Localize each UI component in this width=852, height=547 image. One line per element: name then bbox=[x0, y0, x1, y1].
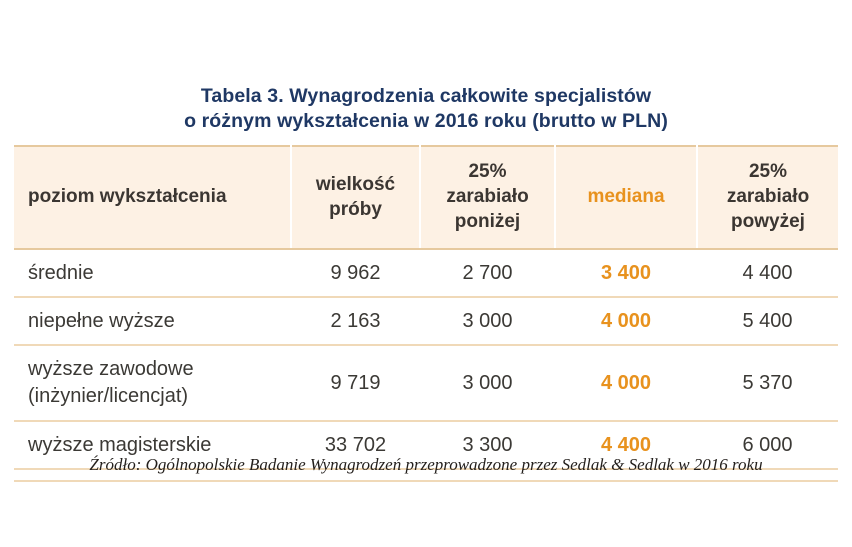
table-row: średnie 9 962 2 700 3 400 4 400 bbox=[14, 249, 838, 297]
column-header-education-level-line-1: poziom wykształcenia bbox=[28, 184, 282, 209]
column-header-sample-size: wielkość próby bbox=[291, 146, 420, 249]
cell-q25-below: 3 000 bbox=[420, 297, 555, 345]
table-row: wyższe zawodowe (inżynier/licencjat) 9 7… bbox=[14, 345, 838, 421]
cell-q25-above: 4 400 bbox=[697, 249, 838, 297]
cell-median: 3 400 bbox=[555, 249, 697, 297]
cell-sample-size: 2 163 bbox=[291, 297, 420, 345]
source-note: Źródło: Ogólnopolskie Badanie Wynagrodze… bbox=[14, 455, 838, 475]
page-title: Tabela 3. Wynagrodzenia całkowite specja… bbox=[0, 84, 852, 134]
cell-median: 4 000 bbox=[555, 345, 697, 421]
column-header-q25-above-line-1: 25% bbox=[706, 159, 830, 184]
column-header-q25-below-line-1: 25% bbox=[429, 159, 546, 184]
column-header-q25-above-line-2: zarabiało bbox=[706, 184, 830, 209]
cell-sample-size: 9 719 bbox=[291, 345, 420, 421]
column-header-median-line-1: mediana bbox=[564, 184, 688, 209]
cell-education-level: wyższe zawodowe (inżynier/licencjat) bbox=[14, 345, 291, 421]
cell-education-level-line-1: wyższe zawodowe bbox=[28, 356, 283, 383]
wage-table: poziom wykształcenia wielkość próby 25% … bbox=[14, 145, 838, 470]
table-body: średnie 9 962 2 700 3 400 4 400 niepełne… bbox=[14, 249, 838, 469]
cell-q25-above: 5 400 bbox=[697, 297, 838, 345]
column-header-q25-below-line-3: poniżej bbox=[429, 209, 546, 234]
cell-education-level: niepełne wyższe bbox=[14, 297, 291, 345]
column-header-sample-size-line-2: próby bbox=[300, 197, 411, 222]
cell-sample-size: 9 962 bbox=[291, 249, 420, 297]
cell-q25-below: 3 000 bbox=[420, 345, 555, 421]
cell-median: 4 000 bbox=[555, 297, 697, 345]
column-header-q25-above-line-3: powyżej bbox=[706, 209, 830, 234]
wage-table-container: poziom wykształcenia wielkość próby 25% … bbox=[14, 145, 838, 470]
cell-education-level-line-1: niepełne wyższe bbox=[28, 308, 283, 334]
cell-education-level-line-1: średnie bbox=[28, 260, 283, 286]
column-header-median: mediana bbox=[555, 146, 697, 249]
table-header: poziom wykształcenia wielkość próby 25% … bbox=[14, 146, 838, 249]
title-line-1: Tabela 3. Wynagrodzenia całkowite specja… bbox=[0, 84, 852, 109]
cell-q25-below: 2 700 bbox=[420, 249, 555, 297]
column-header-q25-below-line-2: zarabiało bbox=[429, 184, 546, 209]
table-header-row: poziom wykształcenia wielkość próby 25% … bbox=[14, 146, 838, 249]
table-row: niepełne wyższe 2 163 3 000 4 000 5 400 bbox=[14, 297, 838, 345]
column-header-q25-above: 25% zarabiało powyżej bbox=[697, 146, 838, 249]
column-header-education-level: poziom wykształcenia bbox=[14, 146, 291, 249]
source-divider bbox=[14, 480, 838, 482]
table-figure: Tabela 3. Wynagrodzenia całkowite specja… bbox=[0, 0, 852, 547]
title-line-2: o różnym wykształcenia w 2016 roku (brut… bbox=[0, 109, 852, 134]
cell-education-level-line-2: (inżynier/licencjat) bbox=[28, 383, 283, 410]
cell-q25-above: 5 370 bbox=[697, 345, 838, 421]
column-header-sample-size-line-1: wielkość bbox=[300, 172, 411, 197]
cell-education-level: średnie bbox=[14, 249, 291, 297]
column-header-q25-below: 25% zarabiało poniżej bbox=[420, 146, 555, 249]
